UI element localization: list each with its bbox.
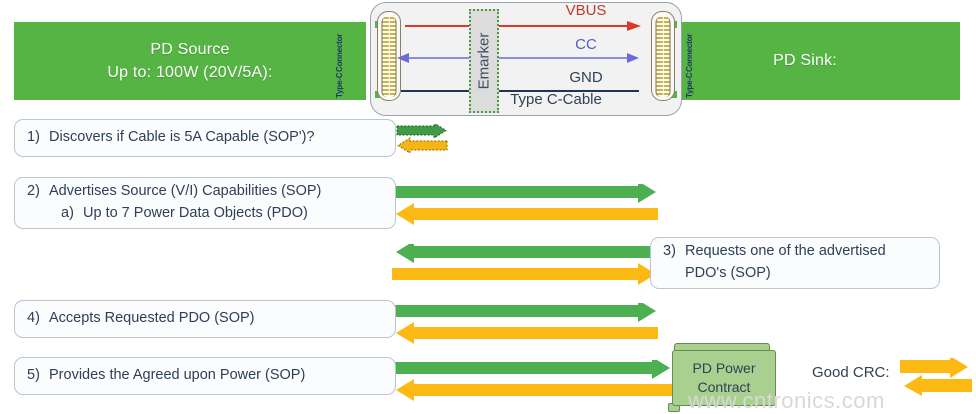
step-2[interactable]: 2)Advertises Source (V/I) Capabilities (… (14, 177, 396, 229)
source-connector-caption-line2: Connector (336, 33, 345, 71)
step-4-arrows (392, 303, 658, 347)
pd-source-line1: PD Source (150, 38, 229, 61)
step-5-line: 5)Provides the Agreed upon Power (SOP) (27, 365, 385, 387)
cc-label: CC (491, 36, 681, 53)
step-2-subline: a)Up to 7 Power Data Objects (PDO) (27, 203, 385, 225)
step-4-text: Accepts Requested PDO (SOP) (49, 310, 255, 326)
emarker-label: Emarker (476, 33, 493, 90)
type-c-cable-body: Emarker VBUS CC GND Type C-Cable (370, 2, 682, 116)
type-c-cable-label: Type C-Cable (431, 91, 681, 108)
step-3-text: Requests one of the advertised (685, 243, 886, 259)
step-1-text: Discovers if Cable is 5A Capable (SOP')? (49, 129, 315, 145)
good-crc-arrows (900, 358, 972, 401)
step-3-number: 3) (663, 241, 685, 263)
pd-sink-band: PD Sink: (650, 22, 960, 100)
pd-source-band: PD Source Up to: 100W (20V/5A): (14, 22, 366, 100)
diagram-canvas: www.cntronics.com PD Source Up to: 100W … (0, 0, 976, 414)
gnd-label: GND (491, 69, 681, 86)
pd-sink-text: PD Sink: (650, 22, 960, 100)
step-2-sub-number: a) (61, 203, 83, 225)
step-1-number: 1) (27, 127, 49, 149)
step-3-text-line2: PDO's (SOP) (685, 265, 771, 281)
step-2-text: Advertises Source (V/I) Capabilities (SO… (49, 183, 321, 199)
step-3[interactable]: 3)Requests one of the advertised PDO's (… (650, 237, 940, 289)
source-connector-caption-line1: Type-C (336, 73, 345, 98)
step-1-line: 1)Discovers if Cable is 5A Capable (SOP'… (27, 127, 385, 149)
pd-sink-line1: PD Sink: (773, 49, 837, 72)
vbus-label: VBUS (491, 2, 681, 19)
watermark: www.cntronics.com (688, 388, 885, 414)
pd-source-text: PD Source Up to: 100W (20V/5A): (14, 22, 366, 100)
sink-connector-caption-line2: Connector (686, 33, 695, 71)
step-2-number: 2) (27, 181, 49, 203)
step-3-arrows (392, 244, 658, 288)
step-5[interactable]: 5)Provides the Agreed upon Power (SOP) (14, 357, 396, 395)
step-3-line2: PDO's (SOP) (663, 263, 929, 285)
step-1[interactable]: 1)Discovers if Cable is 5A Capable (SOP'… (14, 119, 396, 157)
step-5-number: 5) (27, 365, 49, 387)
sink-connector-caption-line1: Type-C (686, 73, 695, 98)
step-5-arrows (392, 360, 672, 404)
step-4-number: 4) (27, 308, 49, 330)
step-5-text: Provides the Agreed upon Power (SOP) (49, 367, 305, 383)
sink-connector-caption: Type-C Connector (686, 26, 695, 98)
step-4-line: 4)Accepts Requested PDO (SOP) (27, 308, 385, 330)
step-2-arrows (392, 184, 658, 228)
step-2-sub-text: Up to 7 Power Data Objects (PDO) (83, 205, 308, 221)
good-crc-label: Good CRC: (812, 364, 890, 381)
contract-line1: PD Power (692, 359, 755, 378)
pd-source-line2: Up to: 100W (20V/5A): (107, 61, 272, 84)
step-1-arrows (396, 124, 448, 154)
step-4[interactable]: 4)Accepts Requested PDO (SOP) (14, 300, 396, 338)
step-3-line1: 3)Requests one of the advertised (663, 241, 929, 263)
step-2-line: 2)Advertises Source (V/I) Capabilities (… (27, 181, 385, 203)
source-connector-caption: Type-C Connector (336, 26, 345, 98)
